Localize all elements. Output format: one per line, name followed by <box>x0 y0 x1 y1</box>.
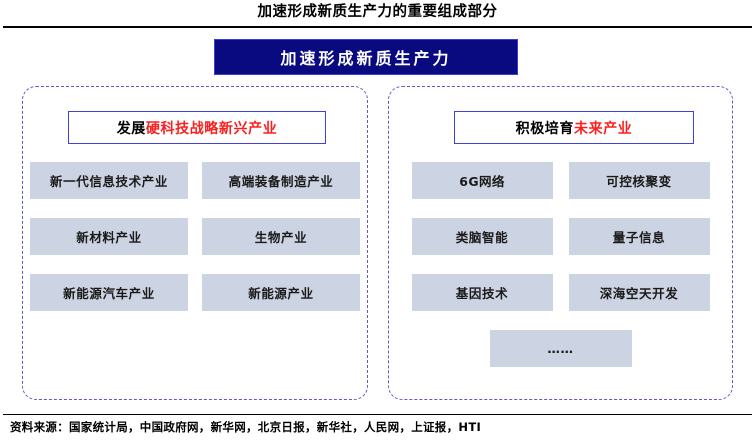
footer-divider <box>3 414 752 415</box>
page-title: 加速形成新质生产力的重要组成部分 <box>0 2 755 22</box>
panel-future-industry-items: 6G网络 可控核聚变 类脑智能 量子信息 基因技术 深海空天开发 …… <box>389 162 732 386</box>
item-row: 6G网络 可控核聚变 <box>389 162 732 199</box>
item-label: 新能源产业 <box>248 283 314 302</box>
item-box[interactable]: 类脑智能 <box>412 218 553 255</box>
item-label: 新材料产业 <box>76 227 142 246</box>
item-row: 类脑智能 量子信息 <box>389 218 732 255</box>
item-row: 新材料产业 生物产业 <box>23 218 367 255</box>
item-label: 生物产业 <box>255 227 307 246</box>
item-row: 新一代信息技术产业 高端装备制造产业 <box>23 162 367 199</box>
item-row-ellipsis: …… <box>389 330 732 367</box>
item-box[interactable]: 量子信息 <box>569 218 710 255</box>
panel-hard-tech-header-black: 发展 <box>117 118 146 138</box>
item-label: 基因技术 <box>456 283 508 302</box>
panel-future-industry-header-black: 积极培育 <box>516 118 574 138</box>
panels-container: 发展硬科技战略新兴产业 新一代信息技术产业 高端装备制造产业 新材料产业 生物产… <box>0 86 755 403</box>
item-box[interactable]: 可控核聚变 <box>569 162 710 199</box>
item-box[interactable]: 新材料产业 <box>30 218 188 255</box>
item-box[interactable]: 高端装备制造产业 <box>202 162 360 199</box>
item-row: 基因技术 深海空天开发 <box>389 274 732 311</box>
item-label: 可控核聚变 <box>606 171 672 190</box>
item-box-ellipsis[interactable]: …… <box>490 330 632 367</box>
panel-hard-tech-header: 发展硬科技战略新兴产业 <box>68 111 326 144</box>
item-label: 新一代信息技术产业 <box>50 171 168 190</box>
panel-future-industry-header: 积极培育未来产业 <box>454 111 694 144</box>
panel-hard-tech-header-red: 硬科技战略新兴产业 <box>146 118 277 138</box>
panel-hard-tech: 发展硬科技战略新兴产业 新一代信息技术产业 高端装备制造产业 新材料产业 生物产… <box>22 86 368 400</box>
main-banner-label: 加速形成新质生产力 <box>280 45 451 69</box>
item-label: 类脑智能 <box>456 227 508 246</box>
panel-hard-tech-items: 新一代信息技术产业 高端装备制造产业 新材料产业 生物产业 新能源汽车产业 新能… <box>23 162 367 330</box>
item-box[interactable]: 新能源汽车产业 <box>30 274 188 311</box>
main-banner: 加速形成新质生产力 <box>214 39 518 75</box>
item-label: 6G网络 <box>459 171 505 190</box>
item-box[interactable]: 6G网络 <box>412 162 553 199</box>
title-divider <box>3 26 752 28</box>
item-box[interactable]: 新一代信息技术产业 <box>30 162 188 199</box>
item-box[interactable]: 生物产业 <box>202 218 360 255</box>
source-note: 资料来源：国家统计局，中国政府网，新华网，北京日报，新华社，人民网，上证报，HT… <box>10 419 481 435</box>
panel-future-industry: 积极培育未来产业 6G网络 可控核聚变 类脑智能 量子信息 基因技术 深海空天开… <box>388 86 733 400</box>
item-label: 深海空天开发 <box>600 283 679 302</box>
item-box[interactable]: 深海空天开发 <box>569 274 710 311</box>
item-label: 高端装备制造产业 <box>229 171 334 190</box>
panel-future-industry-header-red: 未来产业 <box>574 118 632 138</box>
ellipsis-label: …… <box>547 341 573 356</box>
item-label: 新能源汽车产业 <box>63 283 155 302</box>
item-box[interactable]: 新能源产业 <box>202 274 360 311</box>
item-row: 新能源汽车产业 新能源产业 <box>23 274 367 311</box>
item-box[interactable]: 基因技术 <box>412 274 553 311</box>
item-label: 量子信息 <box>613 227 665 246</box>
